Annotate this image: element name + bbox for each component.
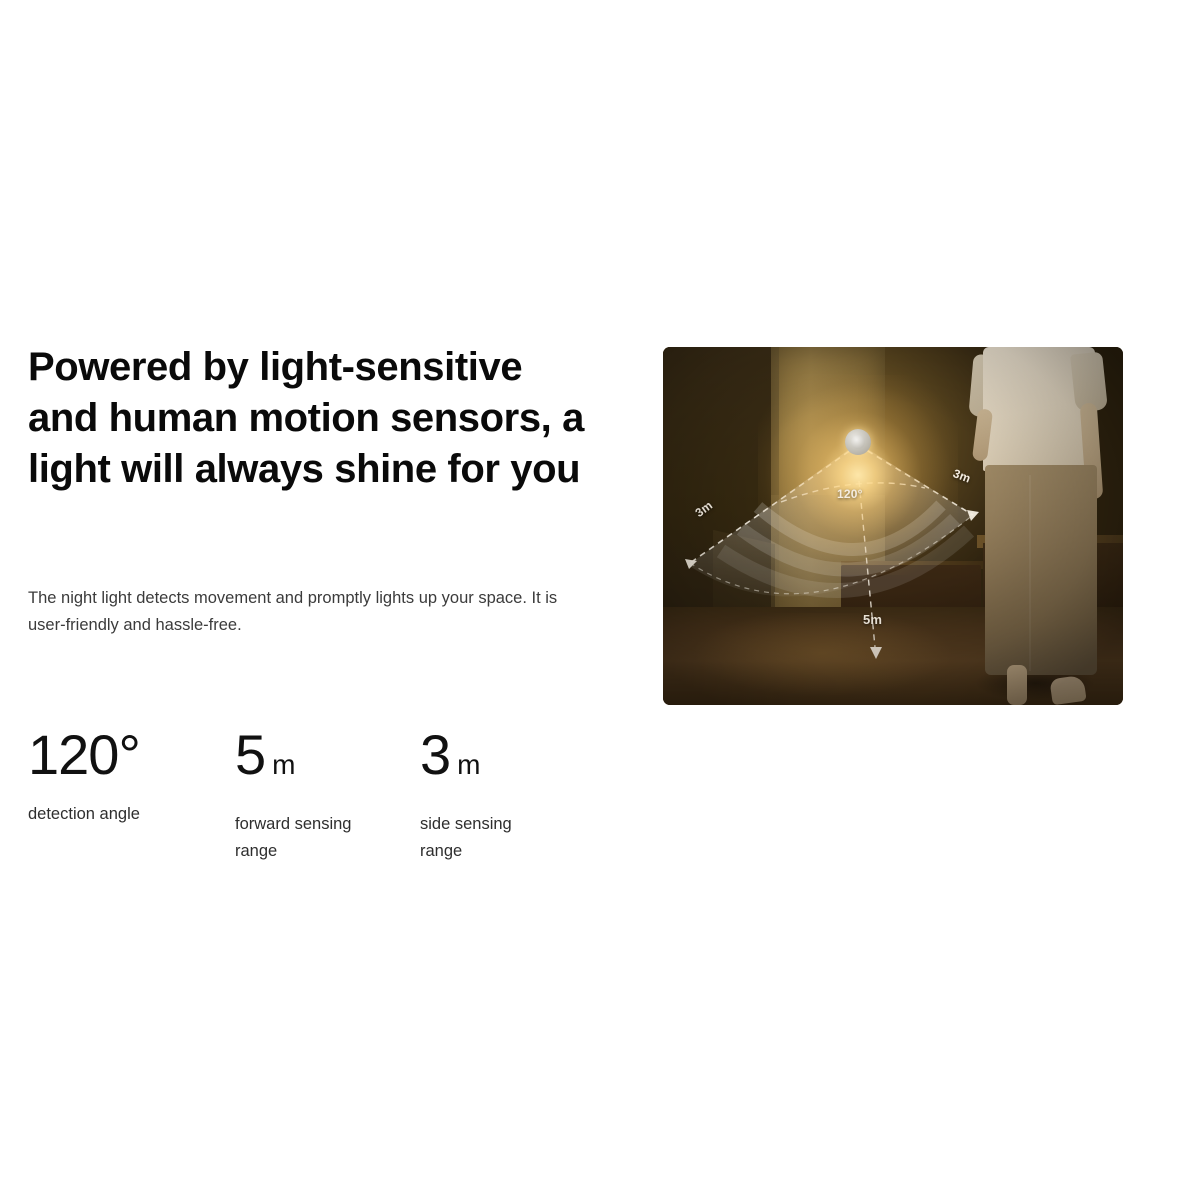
stat-label: side sensing range xyxy=(420,811,555,865)
stat-unit-degree: ° xyxy=(118,726,139,784)
stat-label: forward sensing range xyxy=(235,811,370,865)
photo-scene: 120° 3m 3m 5m xyxy=(663,347,1123,705)
stat-value: 120° xyxy=(28,726,235,784)
forward-arrow-head xyxy=(870,647,882,659)
label-detection-angle: 120° xyxy=(837,487,863,501)
stat-label: detection angle xyxy=(28,801,208,828)
feature-description: The night light detects movement and pro… xyxy=(28,585,573,639)
page-title: Powered by light-sensitive and human mot… xyxy=(28,342,598,495)
product-feature-page: { "page": { "background_color": "#ffffff… xyxy=(0,0,1200,1200)
product-photo: 120° 3m 3m 5m xyxy=(663,347,1123,705)
label-forward-range: 5m xyxy=(863,612,882,627)
stat-side-range: 3m side sensing range xyxy=(420,726,588,865)
stat-value: 5m xyxy=(235,726,420,794)
stat-value: 3m xyxy=(420,726,588,794)
person-skirt-fold xyxy=(1029,475,1031,671)
spec-stats-row: 120° detection angle 5m forward sensing … xyxy=(28,726,588,865)
person-skirt xyxy=(985,465,1097,675)
stat-detection-angle: 120° detection angle xyxy=(28,726,235,828)
stat-number: 5 xyxy=(235,726,265,784)
person-figure xyxy=(955,347,1123,705)
feature-text-column: Powered by light-sensitive and human mot… xyxy=(28,342,628,495)
stat-forward-range: 5m forward sensing range xyxy=(235,726,420,865)
stat-number: 120 xyxy=(28,726,118,784)
light-glow xyxy=(758,375,958,575)
night-light-fixture xyxy=(845,429,871,455)
stat-unit-meters: m xyxy=(272,736,295,794)
stat-unit-meters: m xyxy=(457,736,480,794)
person-leg xyxy=(1007,665,1027,705)
stat-number: 3 xyxy=(420,726,450,784)
